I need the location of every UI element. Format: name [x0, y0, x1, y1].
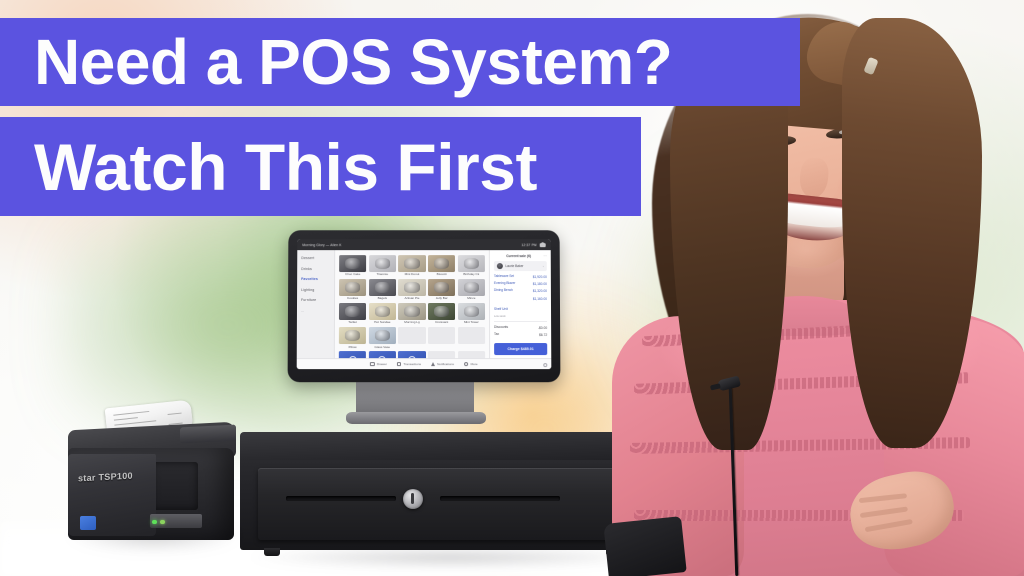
empty-slot-icon [458, 327, 485, 344]
product-tile-label: Tartlet [339, 321, 366, 324]
product-tile-label: Glass Vase [369, 346, 396, 349]
more-icon[interactable]: ⋯ [543, 254, 546, 258]
headline-banner-line-1: Need a POS System? [0, 18, 800, 106]
pos-screen[interactable]: Morning Glory — Allen K 12:37 PM Dessert… [297, 239, 552, 369]
presenter-bag [603, 516, 686, 576]
product-tile[interactable]: Tiramisu [369, 255, 396, 277]
product-tile-label: Mince [458, 297, 485, 300]
product-thumb-icon [339, 255, 366, 272]
product-tile-label: Choc Cake [339, 273, 366, 276]
drawer-foot-left [264, 548, 280, 556]
headline-line-1: Need a POS System? [34, 30, 672, 94]
product-thumb-icon [339, 303, 366, 320]
product-thumb-icon [428, 279, 455, 296]
product-tile[interactable]: Birthday Ck [458, 255, 485, 277]
led-green-status-icon [160, 520, 165, 524]
product-tile-label: Morning Lg [398, 321, 425, 324]
product-tile-empty[interactable] [458, 327, 485, 349]
charge-button[interactable]: Charge $485.01 [494, 343, 547, 355]
product-tile-label: Birthday Ck [458, 273, 485, 276]
line-item-name: Tableware Set [494, 275, 514, 279]
bottom-item-drawer[interactable]: Drawer [370, 362, 387, 367]
bottom-item-label: Notifications [437, 362, 454, 366]
printer-paper-cutter [180, 425, 236, 444]
product-tile-label: Cookies [339, 297, 366, 300]
transactions-icon [397, 362, 402, 367]
product-tile[interactable]: Morning Lg [398, 303, 425, 325]
product-tile[interactable]: Croissant [428, 303, 455, 325]
product-tile[interactable]: Mini Tower [458, 303, 485, 325]
headline-line-2: Watch This First [34, 134, 537, 200]
printer-button-pad[interactable] [150, 514, 202, 528]
product-tile[interactable]: Jelly Bar [428, 279, 455, 301]
summary-label: Tax [494, 333, 499, 337]
product-tile-empty[interactable] [398, 327, 425, 349]
order-divider [494, 321, 547, 322]
product-thumb-icon [398, 303, 425, 320]
sidebar-item-more[interactable]: ... [301, 308, 330, 312]
drawer-slot-right [440, 496, 560, 501]
summary-amount: $6.72 [539, 333, 547, 337]
product-tile[interactable]: Pillow [339, 327, 366, 349]
line-item-name: Dining Bench [494, 289, 513, 293]
product-tile-label: Hot Sundae [369, 321, 396, 324]
drawer-slot-left [286, 496, 396, 501]
bottom-item-notifications[interactable]: Notifications [431, 362, 454, 366]
bottom-item-more[interactable]: More [464, 362, 478, 367]
order-line-item[interactable]: Shelf Unit Low stock $1,160.00 [494, 295, 547, 319]
bottom-item-label: More [471, 362, 478, 366]
terminal-stand-base [346, 412, 486, 424]
bottom-item-label: Drawer [377, 362, 387, 366]
product-tile[interactable]: Biscotti [428, 255, 455, 277]
sidebar-item-furniture[interactable]: Furniture [301, 298, 330, 302]
brand-badge-icon [80, 516, 96, 530]
line-item-name: Evening Blazer [494, 282, 515, 286]
product-tile[interactable]: Artisan Pie [398, 279, 425, 301]
receipt-printer: star TSP100 [62, 396, 242, 558]
product-tile[interactable]: Glass Vase [369, 327, 396, 349]
sidebar-item-drinks[interactable]: Drinks [301, 267, 330, 271]
product-thumb-icon [398, 279, 425, 296]
order-customer-row[interactable]: Laurie Baker › [494, 261, 547, 271]
drawer-front-face[interactable] [258, 468, 642, 540]
order-line-item[interactable]: Evening Blazer $1,180.00 [494, 281, 547, 288]
pos-topbar-time: 12:37 PM [521, 243, 536, 247]
order-panel-header: Current sale (6) ⋯ [494, 254, 547, 260]
order-panel-title: Current sale (6) [506, 254, 531, 258]
product-tile[interactable]: Mince [458, 279, 485, 301]
summary-amount: -$0.00 [538, 326, 547, 330]
pos-terminal: Morning Glory — Allen K 12:37 PM Dessert… [288, 230, 560, 440]
line-item-amount: $1,920.00 [533, 275, 547, 279]
order-summary-row: Discounts -$0.00 [494, 324, 547, 331]
line-item-name: Shelf Unit [494, 307, 508, 311]
product-tile[interactable]: Mini Donut [398, 255, 425, 277]
product-tile-label: Jelly Bar [428, 297, 455, 300]
headline-banner-line-2: Watch This First [0, 117, 641, 216]
printer-side-panel [152, 462, 198, 510]
product-tile[interactable]: Cookies [339, 279, 366, 301]
sidebar-item-dessert[interactable]: Dessert [301, 256, 330, 260]
wifi-icon[interactable] [540, 242, 546, 247]
product-tile-label: Mini Donut [398, 273, 425, 276]
pos-category-nav[interactable]: Dessert Drinks Favorites Lighting Furnit… [297, 250, 335, 358]
order-summary-row: Tax $6.72 [494, 331, 547, 338]
product-thumb-icon [369, 303, 396, 320]
pos-product-grid[interactable]: Choc Cake Tiramisu Mini Donut [339, 255, 485, 369]
product-tile[interactable]: Hot Sundae [369, 303, 396, 325]
bottom-item-transactions[interactable]: Transactions [397, 362, 421, 367]
product-tile-label: Mini Tower [458, 321, 485, 324]
order-line-item[interactable]: Dining Bench $1,320.00 [494, 288, 547, 295]
line-item-sublabel: Low stock [494, 315, 508, 318]
led-green-power-icon [152, 520, 157, 524]
chevron-right-icon[interactable]: › [543, 264, 544, 268]
empty-slot-icon [428, 327, 455, 344]
product-thumb-icon [458, 279, 485, 296]
sidebar-item-favorites[interactable]: Favorites [301, 277, 330, 281]
order-line-item[interactable]: Tableware Set $1,920.00 [494, 274, 547, 281]
product-tile-label: Bagels [369, 297, 396, 300]
product-tile[interactable]: Choc Cake [339, 255, 366, 277]
pos-product-grid-wrap: Choc Cake Tiramisu Mini Donut [335, 250, 489, 358]
line-item-amount: $1,320.00 [533, 289, 547, 293]
product-tile-label: Pillow [339, 346, 366, 349]
product-tile-label: Tiramisu [369, 273, 396, 276]
cash-drawer[interactable] [240, 432, 660, 562]
product-thumb-icon [339, 327, 366, 344]
pos-topbar-title: Morning Glory — Allen K [302, 243, 341, 247]
drawer-lock-icon[interactable] [403, 489, 423, 509]
pos-bottom-bar: Drawer Transactions Notifications More [297, 358, 552, 369]
bell-icon [431, 362, 435, 366]
terminal-bezel: Morning Glory — Allen K 12:37 PM Dessert… [288, 230, 561, 382]
product-thumb-icon [458, 255, 485, 272]
order-customer-name: Laurie Baker [505, 264, 540, 268]
line-item-amount: $1,180.00 [533, 282, 547, 286]
product-tile[interactable]: Bagels [369, 279, 396, 301]
product-thumb-icon [458, 303, 485, 320]
product-thumb-icon [369, 279, 396, 296]
help-icon[interactable] [543, 363, 547, 367]
sidebar-item-lighting[interactable]: Lighting [301, 288, 330, 292]
product-tile-empty[interactable] [428, 327, 455, 349]
pos-main-area: Dessert Drinks Favorites Lighting Furnit… [297, 250, 552, 358]
product-tile-label: Biscotti [428, 273, 455, 276]
pos-order-panel: Current sale (6) ⋯ Laurie Baker › Tablew… [489, 250, 551, 358]
line-item-amount: $1,160.00 [533, 297, 547, 301]
pos-topbar: Morning Glory — Allen K 12:37 PM [297, 239, 550, 250]
bottom-item-label: Transactions [403, 362, 421, 366]
product-thumb-icon [428, 303, 455, 320]
product-thumb-icon [428, 255, 455, 272]
drawer-shadow [250, 550, 650, 568]
more-icon [464, 362, 469, 367]
product-tile-label: Croissant [428, 321, 455, 324]
empty-slot-icon [398, 327, 425, 344]
product-thumb-icon [369, 255, 396, 272]
product-thumb-icon [339, 279, 366, 296]
product-tile-label: Artisan Pie [398, 297, 425, 300]
drawer-icon [370, 362, 375, 367]
avatar-icon [497, 263, 503, 269]
summary-label: Discounts [494, 326, 508, 330]
thumbnail-canvas: star TSP100 Morning Glory — Allen K [0, 0, 1024, 576]
product-tile[interactable]: Tartlet [339, 303, 366, 325]
product-thumb-icon [398, 255, 425, 272]
product-thumb-icon [369, 327, 396, 344]
